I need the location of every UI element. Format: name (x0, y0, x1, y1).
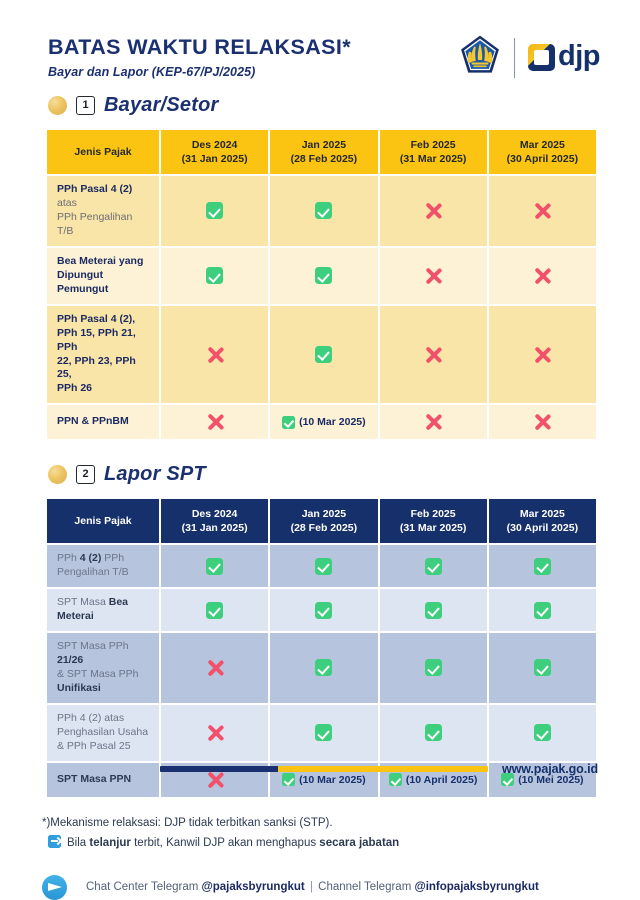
status-cell (270, 176, 377, 246)
table-row: Bea Meterai yangDipungutPemungut (47, 248, 596, 304)
status-cell (270, 705, 377, 761)
column-header-jan-2025: Jan 2025(28 Feb 2025) (270, 499, 377, 543)
telegram-icon (42, 875, 67, 900)
row-label: PPh 4 (2) PPhPengalihan T/B (47, 545, 159, 587)
check-icon (315, 724, 332, 741)
page-title: BATAS WAKTU RELAKSASI* (48, 36, 351, 60)
row-label: PPh 4 (2) atasPenghasilan Usaha& PPh Pas… (47, 705, 159, 761)
check-icon (534, 602, 551, 619)
status-cell (270, 248, 377, 304)
status-cell (489, 545, 596, 587)
arrow-right-icon (48, 835, 61, 848)
check-icon (425, 558, 442, 575)
table-row: PPN & PPnBM(10 Mar 2025) (47, 405, 596, 439)
table-body: PPh Pasal 4 (2) atasPPh Pengalihan T/BBe… (47, 176, 596, 439)
cross-icon (205, 723, 225, 743)
section-heading-lapor-spt: 2 Lapor SPT (0, 463, 640, 486)
column-header-feb-2025: Feb 2025(31 Mar 2025) (380, 499, 487, 543)
footer-bar: www.pajak.go.id (0, 762, 640, 776)
cross-icon (423, 345, 443, 365)
status-cell (161, 589, 268, 631)
notes-block: *)Mekanisme relaksasi: DJP tidak terbitk… (0, 799, 640, 853)
channel-handle[interactable]: @infopajaksbyrungkut (414, 881, 538, 893)
chat-center-handle[interactable]: @pajaksbyrungkut (202, 881, 305, 893)
gold-dot-icon (48, 96, 67, 115)
status-cell (489, 589, 596, 631)
status-cell (270, 306, 377, 404)
djp-garuda-emblem-icon (459, 34, 501, 81)
table-body: PPh 4 (2) PPhPengalihan T/BSPT Masa BeaM… (47, 545, 596, 796)
check-icon (282, 416, 295, 429)
cross-icon (205, 345, 225, 365)
cross-icon (532, 266, 552, 286)
check-icon (206, 202, 223, 219)
status-cell (161, 633, 268, 703)
title-block: BATAS WAKTU RELAKSASI* Bayar dan Lapor (… (48, 32, 351, 79)
bar-segment-yellow (278, 766, 488, 772)
column-header-jenis-pajak: Jenis Pajak (47, 130, 159, 174)
status-cell (270, 589, 377, 631)
status-cell (380, 306, 487, 404)
cross-icon (205, 412, 225, 432)
check-icon (206, 558, 223, 575)
status-cell (380, 589, 487, 631)
page-subtitle: Bayar dan Lapor (KEP-67/PJ/2025) (48, 65, 351, 79)
deadline-text: (10 Mar 2025) (299, 416, 366, 428)
table-row: PPh Pasal 4 (2),PPh 15, PPh 21, PPh22, P… (47, 306, 596, 404)
check-icon (534, 558, 551, 575)
check-icon (315, 602, 332, 619)
column-header-mar-2025: Mar 2025(30 April 2025) (489, 130, 596, 174)
status-cell (380, 705, 487, 761)
cross-icon (423, 266, 443, 286)
logo-divider (514, 38, 515, 78)
djp-wordmark-text: djp (558, 42, 600, 71)
status-cell (489, 306, 596, 404)
status-cell (270, 545, 377, 587)
check-icon (315, 202, 332, 219)
row-label: Bea Meterai yangDipungutPemungut (47, 248, 159, 304)
status-cell (489, 248, 596, 304)
table-row: SPT Masa BeaMeterai (47, 589, 596, 631)
section-number-badge: 1 (76, 96, 95, 115)
note-line-2-text: Bila telanjur terbit, Kanwil DJP akan me… (67, 835, 399, 853)
table-bayar-setor: Jenis Pajak Des 2024(31 Jan 2025) Jan 20… (45, 128, 598, 441)
table-row: PPh 4 (2) PPhPengalihan T/B (47, 545, 596, 587)
table-head: Jenis Pajak Des 2024(31 Jan 2025) Jan 20… (47, 130, 596, 174)
website-url: www.pajak.go.id (502, 762, 598, 776)
table-head: Jenis Pajak Des 2024(31 Jan 2025) Jan 20… (47, 499, 596, 543)
row-label: SPT Masa BeaMeterai (47, 589, 159, 631)
status-cell (161, 306, 268, 404)
check-icon (206, 602, 223, 619)
section-title: Bayar/Setor (104, 94, 218, 117)
status-cell (489, 405, 596, 439)
section-title: Lapor SPT (104, 463, 206, 486)
status-cell (380, 633, 487, 703)
check-icon (315, 267, 332, 284)
page-header: BATAS WAKTU RELAKSASI* Bayar dan Lapor (… (0, 0, 640, 94)
cross-icon (205, 658, 225, 678)
check-icon (534, 724, 551, 741)
status-cell (489, 176, 596, 246)
logo-block: djp (459, 32, 600, 81)
bar-segment-navy (160, 766, 278, 772)
contact-row: Chat Center Telegram @pajaksbyrungkut | … (0, 853, 640, 900)
cross-icon (532, 345, 552, 365)
djp-wordmark: djp (528, 44, 600, 71)
cross-icon (423, 412, 443, 432)
check-icon (425, 602, 442, 619)
table-row: SPT Masa PPh 21/26& SPT Masa PPhUnifikas… (47, 633, 596, 703)
check-icon (425, 724, 442, 741)
row-label: SPT Masa PPh 21/26& SPT Masa PPhUnifikas… (47, 633, 159, 703)
check-icon (315, 346, 332, 363)
section-number-badge: 2 (76, 465, 95, 484)
column-header-des-2024: Des 2024(31 Jan 2025) (161, 130, 268, 174)
table-row: PPh Pasal 4 (2) atasPPh Pengalihan T/B (47, 176, 596, 246)
status-cell (380, 545, 487, 587)
channel-label: Channel Telegram (318, 881, 411, 893)
status-cell (161, 545, 268, 587)
row-label: PPh Pasal 4 (2),PPh 15, PPh 21, PPh22, P… (47, 306, 159, 404)
gold-dot-icon (48, 465, 67, 484)
table-header-row: Jenis Pajak Des 2024(31 Jan 2025) Jan 20… (47, 130, 596, 174)
cross-icon (532, 201, 552, 221)
table-row: PPh 4 (2) atasPenghasilan Usaha& PPh Pas… (47, 705, 596, 761)
table-lapor-spt: Jenis Pajak Des 2024(31 Jan 2025) Jan 20… (45, 497, 598, 798)
column-header-jenis-pajak: Jenis Pajak (47, 499, 159, 543)
section-heading-bayar-setor: 1 Bayar/Setor (0, 94, 640, 117)
status-cell (270, 633, 377, 703)
status-cell (380, 176, 487, 246)
column-header-feb-2025: Feb 2025(31 Mar 2025) (380, 130, 487, 174)
chat-center-label: Chat Center Telegram (86, 881, 198, 893)
table-wrap-lapor-spt: Jenis Pajak Des 2024(31 Jan 2025) Jan 20… (0, 497, 640, 798)
column-header-des-2024: Des 2024(31 Jan 2025) (161, 499, 268, 543)
check-icon (425, 659, 442, 676)
contact-text: Chat Center Telegram @pajaksbyrungkut | … (86, 881, 539, 893)
check-icon (534, 659, 551, 676)
note-line-2: Bila telanjur terbit, Kanwil DJP akan me… (42, 833, 600, 853)
status-cell (161, 176, 268, 246)
check-icon (206, 267, 223, 284)
status-cell (161, 248, 268, 304)
column-header-jan-2025: Jan 2025(28 Feb 2025) (270, 130, 377, 174)
note-line-1: *)Mekanisme relaksasi: DJP tidak terbitk… (42, 815, 600, 833)
check-icon (315, 558, 332, 575)
decorative-bar (160, 766, 488, 772)
status-cell (380, 405, 487, 439)
table-wrap-bayar-setor: Jenis Pajak Des 2024(31 Jan 2025) Jan 20… (0, 128, 640, 441)
cross-icon (423, 201, 443, 221)
table-header-row: Jenis Pajak Des 2024(31 Jan 2025) Jan 20… (47, 499, 596, 543)
status-cell (489, 705, 596, 761)
row-label: PPN & PPnBM (47, 405, 159, 439)
column-header-mar-2025: Mar 2025(30 April 2025) (489, 499, 596, 543)
check-icon (315, 659, 332, 676)
contact-separator: | (310, 881, 313, 893)
status-cell (161, 405, 268, 439)
cross-icon (532, 412, 552, 432)
status-cell (380, 248, 487, 304)
status-cell (489, 633, 596, 703)
status-cell: (10 Mar 2025) (270, 405, 377, 439)
djp-square-icon (528, 44, 555, 71)
status-cell (161, 705, 268, 761)
row-label: PPh Pasal 4 (2) atasPPh Pengalihan T/B (47, 176, 159, 246)
